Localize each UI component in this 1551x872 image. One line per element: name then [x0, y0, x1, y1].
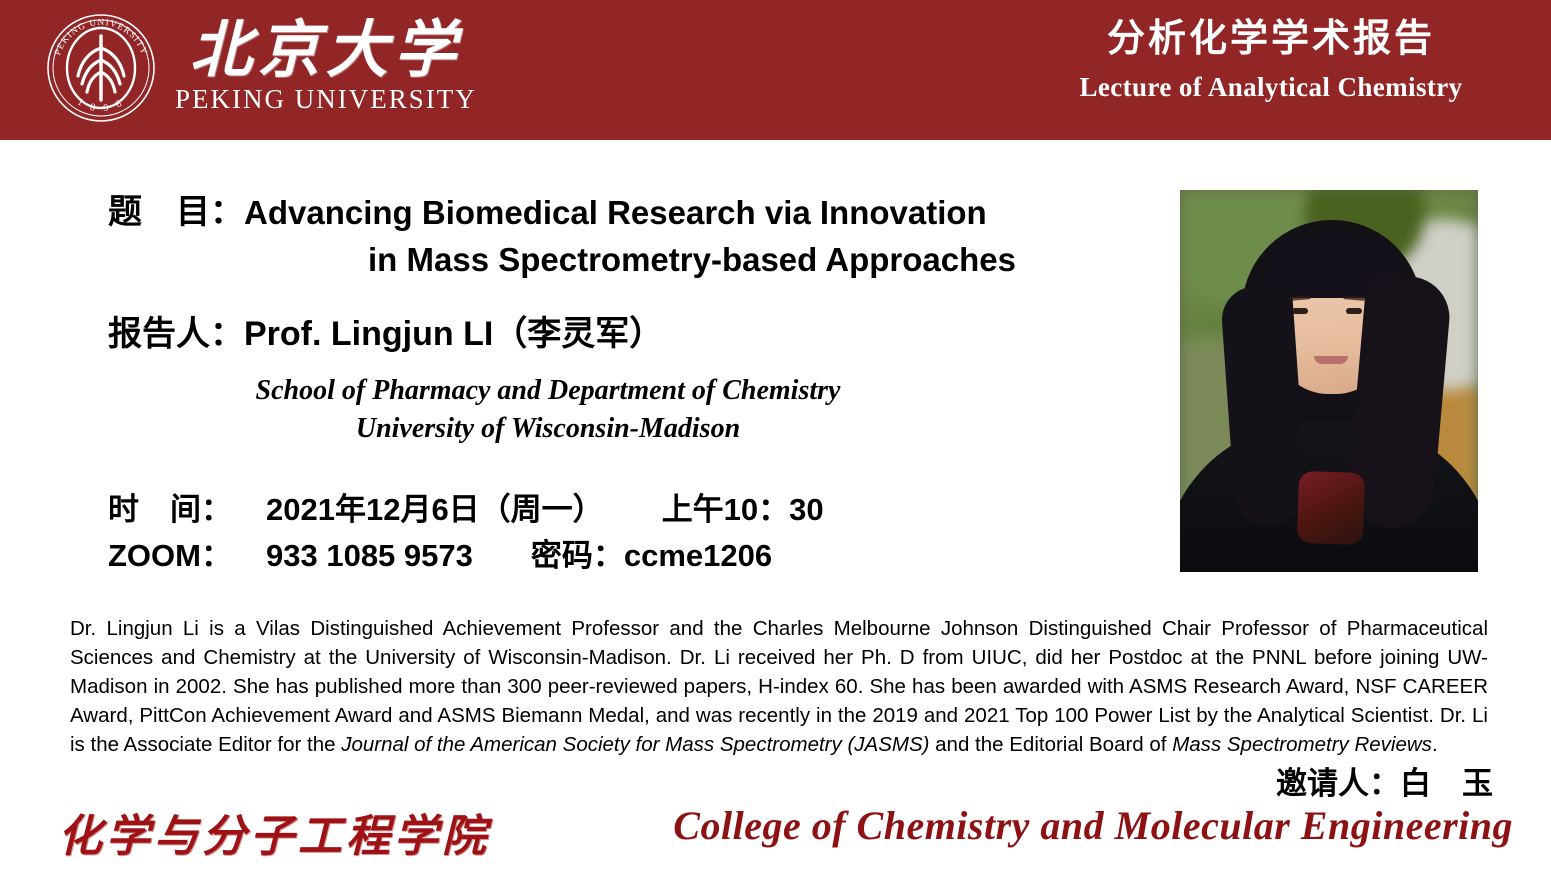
speaker-biography: Dr. Lingjun Li is a Vilas Distinguished …	[70, 614, 1488, 759]
brand-name-cn: 北京大学	[190, 21, 462, 82]
lecture-poster: PEKING UNIVERSITY 1 8 9 8 北京大学 PEKING UN…	[0, 0, 1551, 872]
lecture-info: 题 目： Advancing Biomedical Research via I…	[108, 190, 1168, 580]
speaker-label: 报告人：	[108, 312, 244, 358]
college-name-en: College of Chemistry and Molecular Engin…	[673, 802, 1513, 849]
header-band: PEKING UNIVERSITY 1 8 9 8 北京大学 PEKING UN…	[0, 0, 1551, 140]
password-value[interactable]: ccme1206	[624, 538, 772, 573]
series-title-group: 分析化学学术报告 Lecture of Analytical Chemistry	[1031, 18, 1511, 103]
portrait-collar	[1297, 471, 1365, 545]
title-row: 题 目： Advancing Biomedical Research via I…	[108, 190, 1168, 284]
affiliation-line-1: School of Pharmacy and Department of Che…	[108, 372, 988, 411]
speaker-portrait	[1180, 190, 1478, 572]
bio-part-3: .	[1432, 733, 1438, 756]
brand-wordmark: 北京大学 PEKING UNIVERSITY	[175, 21, 477, 115]
bio-journal-msr: Mass Spectrometry Reviews	[1172, 733, 1432, 756]
series-title-en: Lecture of Analytical Chemistry	[1031, 72, 1511, 103]
portrait-eye-right	[1346, 308, 1362, 314]
title-label: 题 目：	[108, 190, 244, 236]
zoom-label: ZOOM：	[108, 538, 232, 573]
speaker-name: Prof. Lingjun LI（李灵军）	[244, 312, 663, 356]
time-row: 时 间：2021年12月6日（周一）上午10：30	[108, 487, 1168, 534]
time-label: 时 间：	[108, 492, 232, 527]
portrait-eye-left	[1292, 308, 1308, 314]
title-line-1: Advancing Biomedical Research via Innova…	[244, 190, 1168, 237]
portrait-mouth	[1314, 356, 1348, 364]
bio-part-2: and the Editorial Board of	[929, 733, 1172, 756]
zoom-row: ZOOM：933 1085 9573密码：ccme1206	[108, 533, 1168, 580]
time-date: 2021年12月6日（周一）	[266, 492, 604, 527]
affiliation-line-2: University of Wisconsin-Madison	[108, 410, 988, 449]
title-text: Advancing Biomedical Research via Innova…	[244, 190, 1168, 284]
university-brand: PEKING UNIVERSITY 1 8 9 8 北京大学 PEKING UN…	[45, 12, 477, 124]
brand-name-en: PEKING UNIVERSITY	[175, 84, 477, 115]
speaker-affiliation: School of Pharmacy and Department of Che…	[108, 372, 1168, 449]
password-label: 密码：	[531, 538, 624, 573]
speaker-row: 报告人： Prof. Lingjun LI（李灵军）	[108, 312, 1168, 358]
time-clock: 上午10：30	[662, 492, 824, 527]
college-name-cn: 化学与分子工程学院	[58, 800, 490, 864]
series-title-cn: 分析化学学术报告	[1031, 18, 1511, 62]
inviter-line: 邀请人：白 玉	[1276, 758, 1493, 803]
zoom-meeting-id[interactable]: 933 1085 9573	[266, 538, 473, 573]
bio-journal-jasms: Journal of the American Society for Mass…	[341, 733, 929, 756]
lecture-meta: 时 间：2021年12月6日（周一）上午10：30 ZOOM：933 1085 …	[108, 487, 1168, 580]
title-line-2: in Mass Spectrometry-based Approaches	[244, 237, 1168, 284]
peking-university-seal-icon: PEKING UNIVERSITY 1 8 9 8	[45, 12, 157, 124]
